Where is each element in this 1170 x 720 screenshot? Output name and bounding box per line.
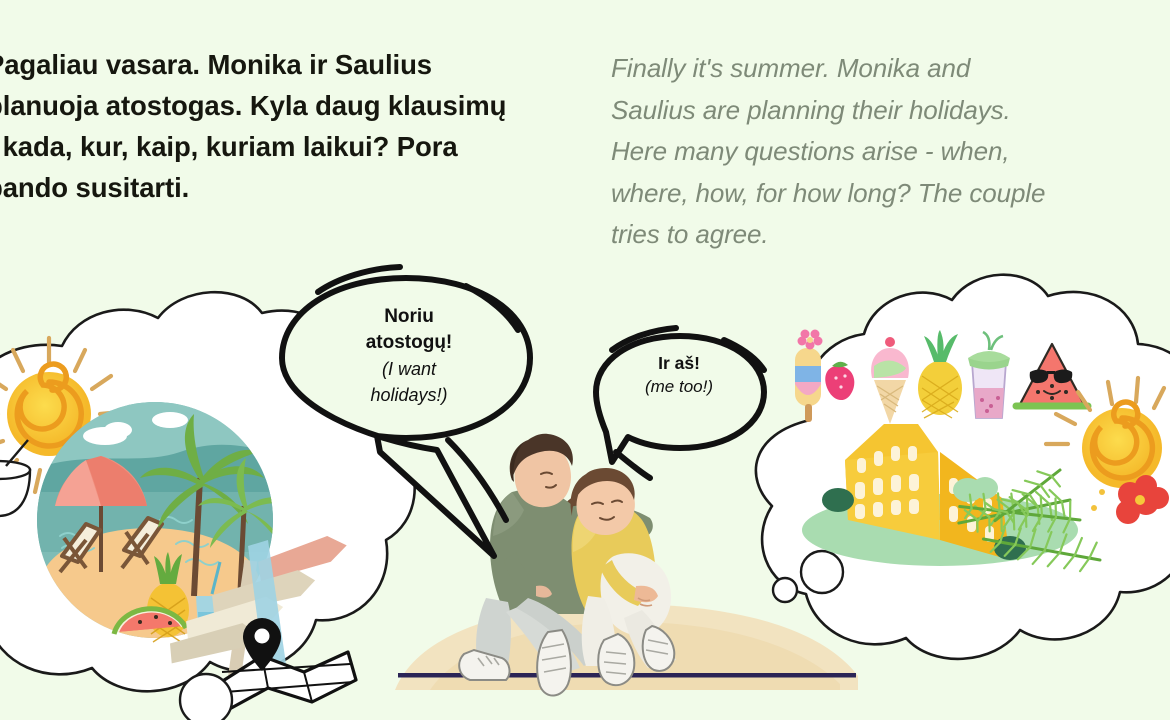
watermelon-left [114, 607, 186, 634]
pineapple-icon [918, 330, 962, 418]
speech-bubble-man: Noriu atostogų! (I want holidays!) [278, 262, 540, 492]
cocktail-left [196, 562, 220, 646]
bubble1-line1: Noriu [278, 304, 540, 330]
sun-icon-left [0, 338, 122, 492]
bubble2-line1: Ir aš! [585, 352, 773, 375]
pineapple-left [147, 552, 189, 642]
signpost-group [169, 533, 350, 690]
right-thought-cloud [756, 275, 1170, 659]
bubble1-line3: (I want [278, 356, 540, 382]
speech-bubble-woman-text: Ir aš! (me too!) [585, 352, 773, 398]
bubble1-line2: atostogų! [278, 330, 540, 356]
sun-icon-right [1046, 378, 1164, 488]
hibiscus-flower-icon [1116, 475, 1169, 524]
watermelon-sunglasses-icon [1016, 344, 1088, 408]
narration-lithuanian: Pagaliau vasara. Monika ir Saulius planu… [0, 44, 586, 208]
coconut-drink [0, 436, 30, 516]
popsicle-icon [795, 330, 823, 423]
smoothie-cup-icon [968, 332, 1010, 418]
ice-cream-cone-icon [871, 337, 909, 424]
strawberry-icon [825, 362, 854, 400]
narration-english: Finally it's summer. Monika and Saulius … [611, 48, 1170, 256]
bubble2-line2: (me too!) [585, 375, 773, 398]
speech-bubble-woman: Ir aš! (me too!) [585, 322, 773, 482]
bubble1-line4: holidays!) [278, 382, 540, 408]
sunglasses-icon [1030, 370, 1073, 384]
illustration-canvas: Pagaliau vasara. Monika ir Saulius planu… [0, 0, 1170, 720]
treats-row [795, 330, 1088, 425]
map-with-pin-icon [218, 618, 356, 712]
flower-icon [798, 330, 823, 350]
speech-bubble-man-text: Noriu atostogų! (I want holidays!) [278, 304, 540, 408]
colosseum-icon [802, 424, 1078, 566]
palm-leaves-right [955, 452, 1169, 603]
sneakers [459, 626, 674, 696]
